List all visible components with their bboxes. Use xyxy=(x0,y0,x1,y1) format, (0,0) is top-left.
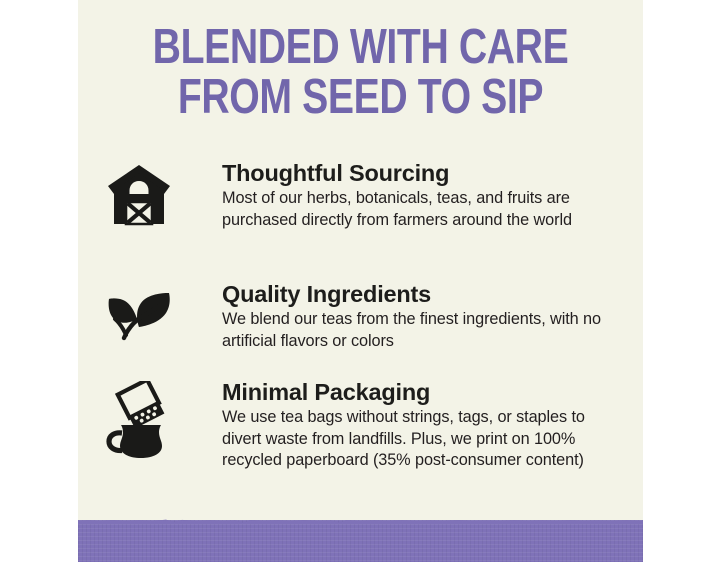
feature-title: Minimal Packaging xyxy=(222,379,620,405)
feature-title: Quality Ingredients xyxy=(222,281,620,307)
infographic-page: BLENDED WITH CARE FROM SEED TO SIP Thoug… xyxy=(0,0,720,562)
feature-body: Thoughtful Sourcing Most of our herbs, b… xyxy=(222,160,620,231)
feature-body: Minimal Packaging We use tea bags withou… xyxy=(222,379,620,472)
headline-line-2: FROM SEED TO SIP xyxy=(135,72,587,122)
feature-item-quality-ingredients: Quality Ingredients We blend our teas fr… xyxy=(100,281,620,352)
leaves-icon xyxy=(100,289,178,341)
feature-item-minimal-packaging: Minimal Packaging We use tea bags withou… xyxy=(100,379,620,472)
feature-title: Thoughtful Sourcing xyxy=(222,160,620,186)
bottom-accent-band xyxy=(78,514,643,562)
barn-icon xyxy=(100,164,178,226)
page-title: BLENDED WITH CARE FROM SEED TO SIP xyxy=(135,22,587,122)
band-texture xyxy=(78,520,643,562)
feature-description: Most of our herbs, botanicals, teas, and… xyxy=(222,188,620,231)
feature-item-thoughtful-sourcing: Thoughtful Sourcing Most of our herbs, b… xyxy=(100,160,620,231)
feature-description: We blend our teas from the finest ingred… xyxy=(222,309,620,352)
headline-line-1: BLENDED WITH CARE xyxy=(135,22,587,72)
band-brushed-edge xyxy=(78,514,643,524)
teabag-mug-icon xyxy=(100,381,178,459)
feature-description: We use tea bags without strings, tags, o… xyxy=(222,407,620,472)
content-panel: BLENDED WITH CARE FROM SEED TO SIP Thoug… xyxy=(78,0,643,562)
feature-body: Quality Ingredients We blend our teas fr… xyxy=(222,281,620,352)
